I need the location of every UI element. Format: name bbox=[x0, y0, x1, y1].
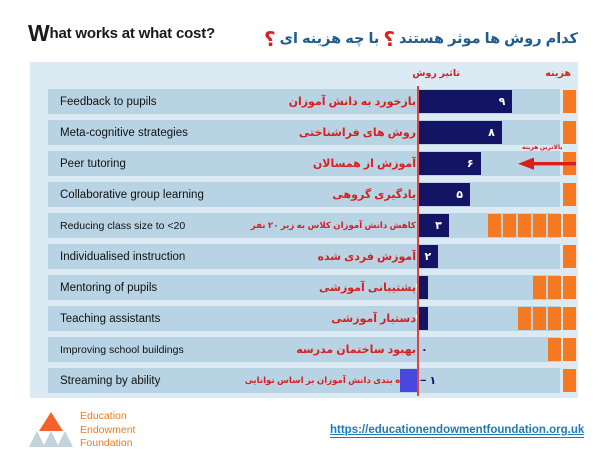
zero-baseline bbox=[417, 241, 419, 272]
row-label-english: Reducing class size to <20 bbox=[60, 213, 185, 238]
chart-row: Individualised instructionآموزش فردی شده… bbox=[30, 241, 578, 272]
row-label-english: Improving school buildings bbox=[60, 337, 184, 362]
cost-blocks bbox=[518, 307, 576, 330]
logo-wordmark: Education Endowment Foundation bbox=[80, 410, 135, 451]
row-label-english: Mentoring of pupils bbox=[60, 275, 157, 300]
row-label-english: Meta-cognitive strategies bbox=[60, 120, 188, 145]
chart-row: Reducing class size to <20کاهش دانش آموز… bbox=[30, 210, 578, 241]
cost-block bbox=[563, 307, 576, 330]
highest-cost-annotation: بالاترین هزینه bbox=[518, 144, 600, 178]
chart-row: Streaming by abilityگروه بندی دانش آموزا… bbox=[30, 365, 578, 396]
cost-block bbox=[563, 276, 576, 299]
row-label-persian: روش های فراشناختی bbox=[299, 120, 416, 145]
cost-blocks bbox=[488, 214, 576, 237]
cost-block bbox=[518, 307, 531, 330]
row-label-english: Individualised instruction bbox=[60, 244, 185, 269]
zero-baseline bbox=[417, 179, 419, 210]
cost-block bbox=[548, 307, 561, 330]
cost-blocks bbox=[548, 338, 576, 361]
row-label-persian: بهبود ساختمان مدرسه bbox=[296, 337, 416, 362]
title-bar: What works at what cost? کدام روش ها موث… bbox=[0, 22, 600, 58]
chart-row: Mentoring of pupilsپشتیبانی آموزشی۱ bbox=[30, 272, 578, 303]
cost-blocks bbox=[563, 183, 576, 206]
effect-bar-negative bbox=[400, 369, 417, 392]
question-mark-icon-1: ؟ bbox=[383, 29, 395, 51]
effect-value: ۳ bbox=[417, 214, 442, 237]
row-label-english: Teaching assistants bbox=[60, 306, 160, 331]
page-title-english: What works at what cost? bbox=[28, 25, 215, 42]
cost-blocks bbox=[563, 90, 576, 113]
chart-row: Peer tutoringآموزش از همسالان۶ bbox=[30, 148, 578, 179]
zero-baseline bbox=[417, 86, 419, 117]
row-label-persian: یادگیری گروهی bbox=[332, 182, 416, 207]
cost-block bbox=[563, 214, 576, 237]
cost-block bbox=[548, 338, 561, 361]
row-label-persian: آموزش فردی شده bbox=[317, 244, 416, 269]
cost-blocks bbox=[563, 245, 576, 268]
effect-value: ۸ bbox=[417, 121, 495, 144]
row-label-persian: دستیار آموزشی bbox=[331, 306, 416, 331]
column-header-cost: هزینه bbox=[545, 68, 571, 84]
effect-value: ۰ bbox=[421, 338, 428, 361]
eef-triangles-logo bbox=[28, 410, 74, 450]
chart-panel: تاثیر روش هزینه Feedback to pupilsبازخور… bbox=[30, 62, 578, 398]
zero-baseline bbox=[417, 148, 419, 179]
cost-block bbox=[518, 214, 531, 237]
cost-block bbox=[563, 369, 576, 392]
logo-line-2: Endowment bbox=[80, 424, 135, 438]
question-mark-icon-2: ؟ bbox=[264, 29, 276, 51]
row-label-persian: کاهش دانش آموزان کلاس به زیر ۲۰ نفر bbox=[251, 213, 416, 238]
title-persian-part2: با چه هزینه ای bbox=[280, 31, 380, 47]
cost-block bbox=[563, 338, 576, 361]
zero-baseline bbox=[417, 365, 419, 396]
effect-value: ۵ bbox=[417, 183, 463, 206]
zero-baseline bbox=[417, 334, 419, 365]
row-label-persian: بازخورد به دانش آموزان bbox=[289, 89, 416, 114]
cost-block bbox=[548, 276, 561, 299]
page-title-persian: کدام روش ها موثر هستند ؟ با چه هزینه ای … bbox=[264, 24, 578, 49]
cost-blocks bbox=[533, 276, 576, 299]
cost-block bbox=[488, 214, 501, 237]
highest-cost-label: بالاترین هزینه bbox=[522, 144, 563, 151]
chart-row: Teaching assistantsدستیار آموزشی۱ bbox=[30, 303, 578, 334]
cost-block bbox=[563, 245, 576, 268]
row-label-english: Streaming by ability bbox=[60, 368, 160, 393]
zero-baseline bbox=[417, 303, 419, 334]
cost-block bbox=[563, 183, 576, 206]
title-english-rest: hat works at what cost? bbox=[50, 25, 215, 42]
row-label-english: Collaborative group learning bbox=[60, 182, 204, 207]
title-persian-part1: کدام روش ها موثر هستند bbox=[399, 31, 578, 47]
title-dropcap: W bbox=[28, 20, 50, 46]
row-label-english: Feedback to pupils bbox=[60, 89, 157, 114]
row-label-persian: آموزش از همسالان bbox=[313, 151, 416, 176]
effect-value: ۹ bbox=[417, 90, 505, 113]
cost-block bbox=[533, 276, 546, 299]
zero-baseline bbox=[417, 272, 419, 303]
source-url-link[interactable]: https://educationendowmentfoundation.org… bbox=[330, 424, 584, 438]
cost-block bbox=[563, 121, 576, 144]
column-header-effect: تاثیر روش bbox=[412, 68, 460, 84]
cost-block bbox=[503, 214, 516, 237]
zero-baseline bbox=[417, 117, 419, 148]
left-arrow-icon bbox=[518, 156, 578, 172]
effect-value: ۶ bbox=[417, 152, 474, 175]
chart-row: Feedback to pupilsبازخورد به دانش آموزان… bbox=[30, 86, 578, 117]
chart-row: Collaborative group learningیادگیری گروه… bbox=[30, 179, 578, 210]
cost-block bbox=[548, 214, 561, 237]
logo-line-1: Education bbox=[80, 410, 135, 424]
footer: Education Endowment Foundation https://e… bbox=[0, 404, 600, 458]
row-label-persian: گروه بندی دانش آموزان بر اساس توانایی bbox=[245, 368, 416, 393]
cost-block bbox=[563, 90, 576, 113]
row-label-persian: پشتیبانی آموزشی bbox=[319, 275, 416, 300]
cost-block bbox=[533, 214, 546, 237]
effect-value: ۲ bbox=[417, 245, 431, 268]
chart-rows: Feedback to pupilsبازخورد به دانش آموزان… bbox=[30, 86, 578, 396]
chart-row: Improving school buildingsبهبود ساختمان … bbox=[30, 334, 578, 365]
chart-row: Meta-cognitive strategiesروش های فراشناخ… bbox=[30, 117, 578, 148]
infographic-root: What works at what cost? کدام روش ها موث… bbox=[0, 0, 600, 458]
logo-line-3: Foundation bbox=[80, 437, 135, 451]
effect-value: − ۱ bbox=[420, 369, 436, 392]
cost-block bbox=[533, 307, 546, 330]
zero-baseline bbox=[417, 210, 419, 241]
row-label-english: Peer tutoring bbox=[60, 151, 126, 176]
cost-blocks bbox=[563, 121, 576, 144]
cost-blocks bbox=[563, 369, 576, 392]
